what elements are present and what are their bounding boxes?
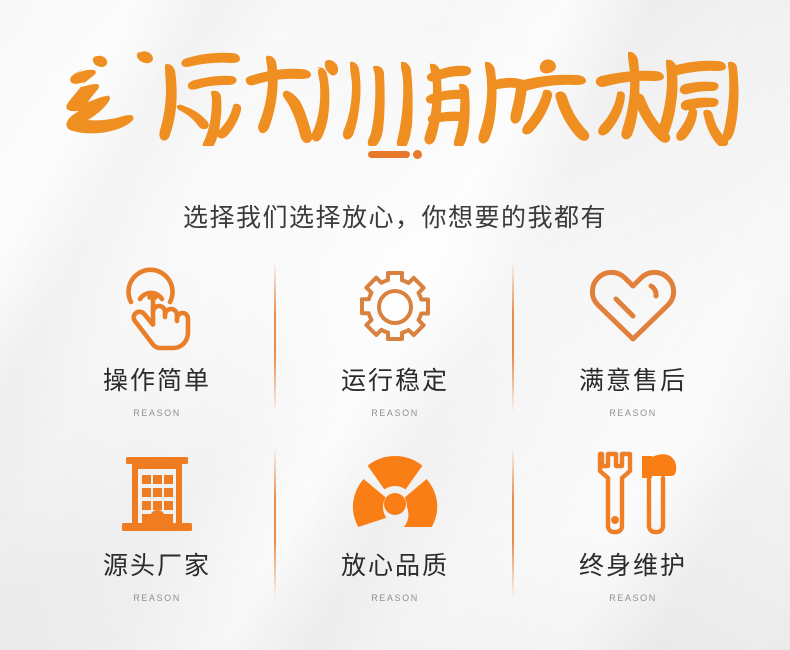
feature-label: 运行稳定 — [341, 369, 449, 394]
feature-sublabel: REASON — [371, 593, 419, 603]
feature-label: 满意售后 — [579, 369, 687, 394]
promo-banner: 选择我们选择放心，你想要的我都有 操作简单 REA — [0, 0, 790, 650]
feature-label: 放心品质 — [341, 554, 449, 579]
feature-label: 终身维护 — [579, 554, 687, 579]
feature-item-5[interactable]: 放心品质 REASON — [276, 440, 514, 625]
feature-item-1[interactable]: 操作简单 REASON — [38, 255, 276, 440]
gear-icon — [340, 263, 450, 355]
feature-item-3[interactable]: 满意售后 REASON — [514, 255, 752, 440]
page-subtitle: 选择我们选择放心，你想要的我都有 — [0, 198, 790, 234]
heart-icon — [578, 263, 688, 355]
feature-item-2[interactable]: 运行稳定 REASON — [276, 255, 514, 440]
feature-label: 操作简单 — [103, 369, 211, 394]
title-divider — [0, 150, 790, 159]
radiation-quality-icon — [340, 448, 450, 540]
feature-grid: 操作简单 REASON 运行稳定 REASON — [38, 255, 752, 625]
divider-bar-icon — [368, 151, 410, 158]
page-title — [0, 36, 790, 146]
wrench-hammer-icon — [578, 448, 688, 540]
divider-dot-icon — [413, 150, 422, 159]
feature-sublabel: REASON — [371, 408, 419, 418]
feature-label: 源头厂家 — [103, 554, 211, 579]
feature-item-4[interactable]: 源头厂家 REASON — [38, 440, 276, 625]
feature-sublabel: REASON — [609, 408, 657, 418]
feature-item-6[interactable]: 终身维护 REASON — [514, 440, 752, 625]
tap-gesture-icon — [102, 263, 212, 355]
factory-building-icon — [102, 448, 212, 540]
title-calligraphy — [45, 36, 745, 146]
feature-sublabel: REASON — [609, 593, 657, 603]
feature-sublabel: REASON — [133, 593, 181, 603]
feature-sublabel: REASON — [133, 408, 181, 418]
